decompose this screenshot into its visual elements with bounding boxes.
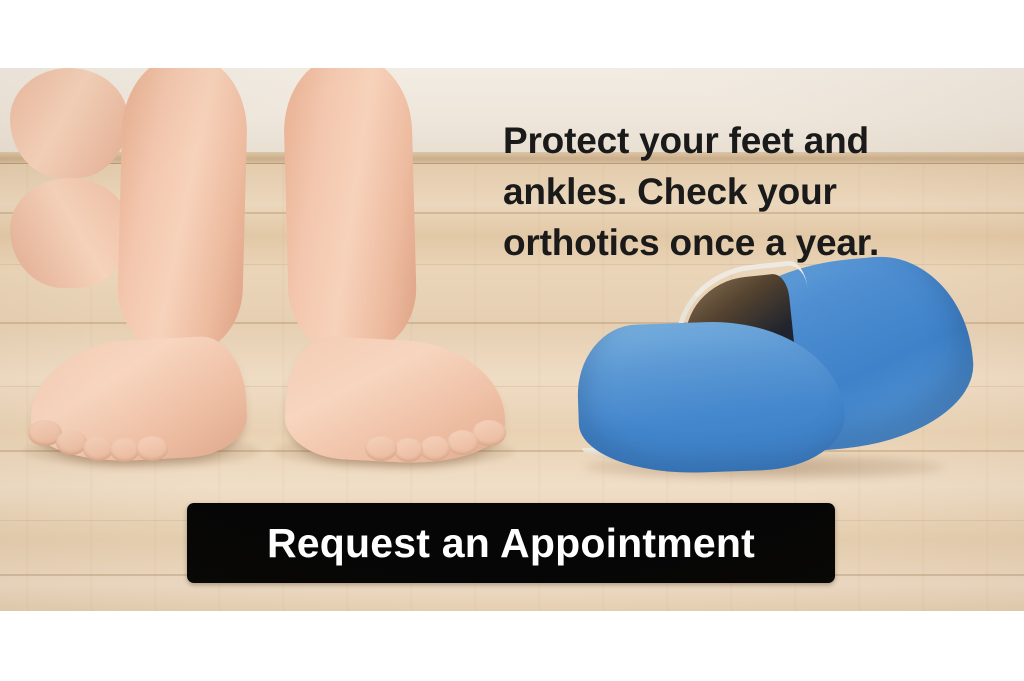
toe (420, 436, 450, 461)
toe (447, 430, 478, 455)
toe (110, 438, 139, 462)
toe (83, 436, 113, 461)
banner-root: Protect your feet and ankles. Check your… (0, 0, 1024, 681)
left-ankle (10, 68, 128, 178)
right-leg (282, 68, 418, 356)
toe (136, 436, 168, 461)
headline-text: Protect your feet and ankles. Check your… (503, 115, 963, 268)
toe (56, 430, 87, 455)
hero-photo: Protect your feet and ankles. Check your… (0, 68, 1024, 611)
request-appointment-button[interactable]: Request an Appointment (187, 503, 835, 583)
request-appointment-label: Request an Appointment (267, 523, 755, 564)
left-leg (116, 68, 249, 356)
bare-feet (10, 68, 520, 488)
toe (365, 436, 397, 461)
orthotic-insoles (580, 258, 980, 493)
right-ankle (10, 178, 130, 288)
toe (394, 438, 423, 462)
